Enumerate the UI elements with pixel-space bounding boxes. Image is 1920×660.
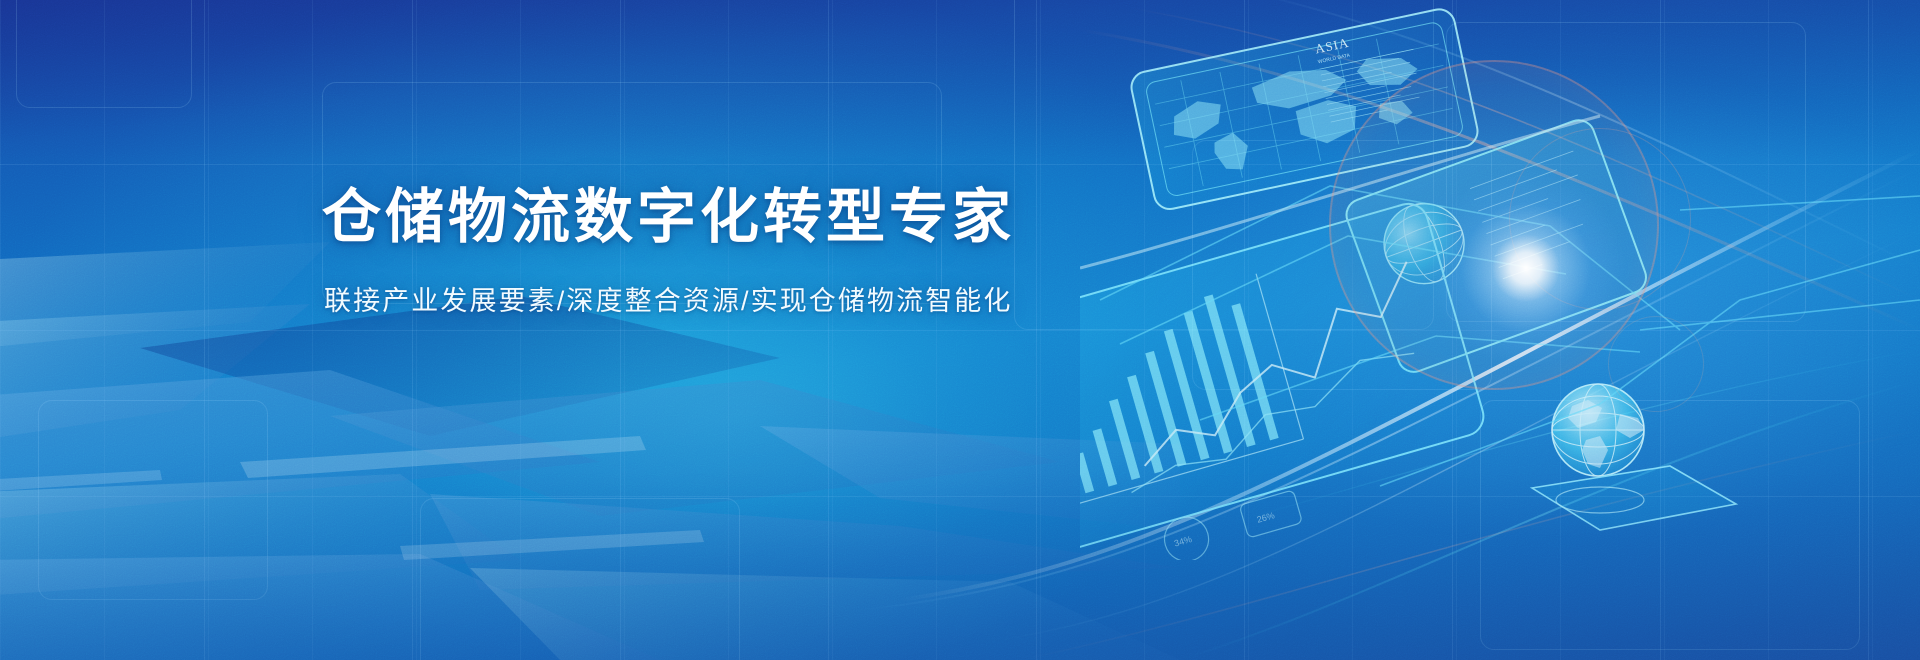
svg-text:WORLD DATA: WORLD DATA bbox=[1317, 53, 1351, 66]
grain-overlay bbox=[0, 0, 1920, 660]
hero-banner: ASIA WORLD DATA bbox=[0, 0, 1920, 660]
lens-flare-ring-outer bbox=[1329, 60, 1659, 390]
top-shade-overlay bbox=[0, 0, 1920, 160]
svg-text:ASIA: ASIA bbox=[1314, 35, 1351, 57]
decor-frame-1 bbox=[16, 0, 192, 108]
svg-text:26%: 26% bbox=[1256, 510, 1276, 525]
svg-text:34%: 34% bbox=[1173, 534, 1193, 549]
decor-frame-5 bbox=[1446, 22, 1806, 322]
banner-subheadline: 联接产业发展要素/深度整合资源/实现仓储物流智能化 bbox=[324, 279, 1082, 318]
decor-frame-6 bbox=[38, 400, 268, 600]
banner-headline: 仓储物流数字化转型专家 bbox=[322, 186, 1082, 249]
lens-flare-core bbox=[1426, 168, 1626, 368]
background-grid bbox=[0, 0, 1920, 660]
background-grid-minor bbox=[0, 0, 1920, 660]
bottom-shade-overlay bbox=[0, 470, 1920, 660]
decor-frame-8 bbox=[420, 498, 740, 660]
decor-frame-4 bbox=[1192, 140, 1492, 390]
banner-copy: 仓储物流数字化转型专家 联接产业发展要素/深度整合资源/实现仓储物流智能化 bbox=[322, 186, 1082, 318]
lens-flare-ring-mid bbox=[1509, 128, 1691, 310]
lens-flare-ring-small bbox=[1608, 316, 1704, 412]
hologram-artwork: ASIA WORLD DATA bbox=[1080, 0, 1920, 560]
decor-frame-7 bbox=[1480, 400, 1860, 650]
light-streaks bbox=[0, 0, 1920, 660]
